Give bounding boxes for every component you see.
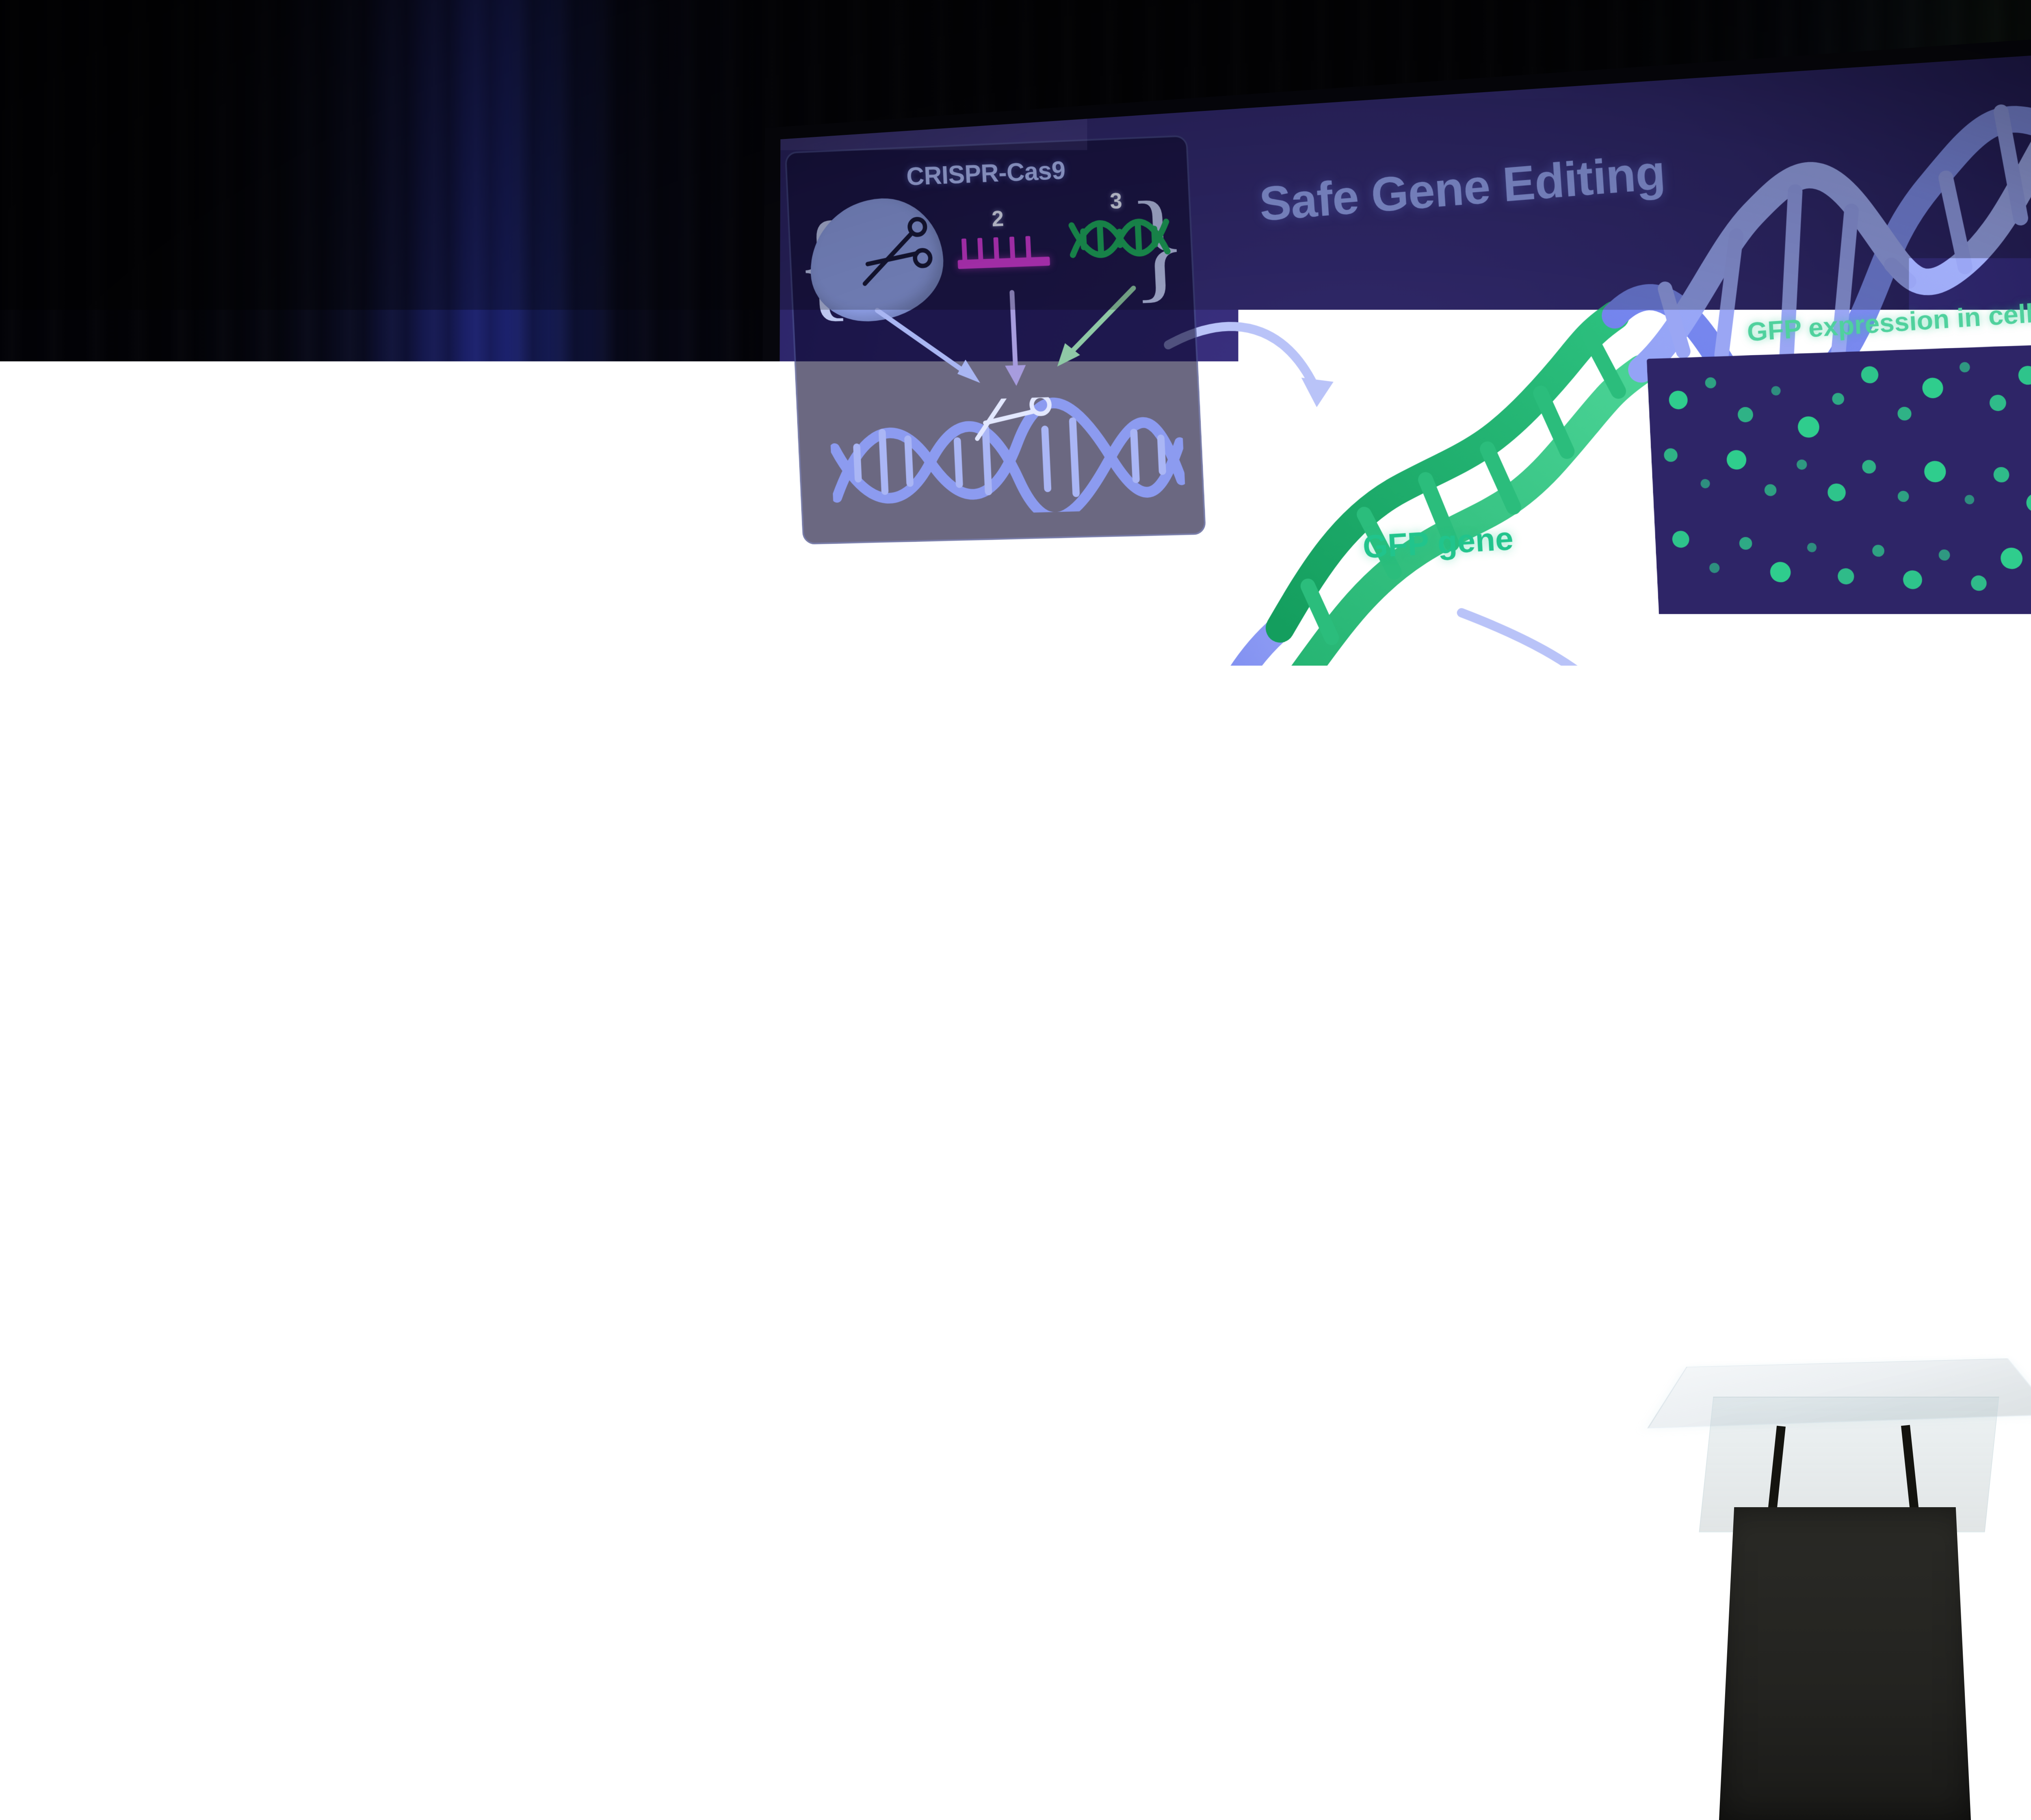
crispr-item-number-3: 3 — [1109, 188, 1123, 214]
gfp-micrograph-panel — [1646, 342, 2031, 865]
banner-url: sjsu.edu/gradslam — [257, 1366, 595, 1390]
audience-shoulders — [1982, 1649, 2031, 1820]
arrow-cas9-to-complex — [872, 301, 987, 394]
logo-unit: COLLEGE OF GRADUATE STUDIES — [390, 1429, 513, 1458]
banner-tagline-line-2: minds tackle the world's — [257, 1304, 596, 1330]
slide-content: CRISPR-Cas9 { } 1 2 3 — [769, 41, 2031, 994]
scissors-icon — [848, 208, 948, 310]
stage-scene: CRISPR-Cas9 { } 1 2 3 — [0, 0, 2031, 1820]
arrow-gene-to-cells — [1462, 610, 1621, 710]
label-rhd-locus: RhD locus — [823, 726, 978, 771]
logo-wordmark: SJSU — [294, 1423, 372, 1463]
banner-sjsu-logo: SJSU COLLEGE OF GRADUATE STUDIES — [294, 1423, 514, 1463]
logo-divider — [380, 1426, 381, 1460]
logo-unit-line-2: GRADUATE STUDIES — [390, 1443, 513, 1458]
screen-brand-label: DA-LITEFast-Fold — [1961, 969, 2031, 981]
arrow-grna-to-complex — [996, 288, 1033, 392]
banner-tagline-line-3: toughest problems — [257, 1329, 596, 1355]
guide-rna-icon — [956, 229, 1050, 269]
logo-unit-line-1: COLLEGE OF — [391, 1429, 514, 1444]
arrow-donor-to-complex — [1047, 283, 1144, 381]
crispr-inset-panel: CRISPR-Cas9 { } 1 2 3 — [784, 135, 1206, 545]
banner-tagline-line-1: SJSU's brightest — [257, 1280, 596, 1306]
audience-silhouettes — [0, 1536, 2031, 1820]
banner-headline-slam: SLAM — [258, 1188, 597, 1255]
target-dna-strand-icon — [829, 393, 1186, 518]
banner-university-name: SAN JOSÉ STATE UNIVERSITY — [258, 1081, 597, 1100]
donor-dna-icon — [1068, 212, 1171, 265]
crispr-item-number-2: 2 — [991, 206, 1005, 232]
banner-tagline: SJSU's brightest minds tackle the world'… — [257, 1280, 596, 1380]
gfp-cell-dots — [1646, 342, 2031, 865]
projection-screen: CRISPR-Cas9 { } 1 2 3 — [756, 29, 2031, 1016]
screen-model-name: Fast-Fold — [2012, 969, 2031, 979]
banner-top-rail — [252, 1034, 604, 1046]
screen-brand-name: DA-LITE — [1961, 969, 2006, 981]
screen-surface: CRISPR-Cas9 { } 1 2 3 — [769, 41, 2031, 994]
